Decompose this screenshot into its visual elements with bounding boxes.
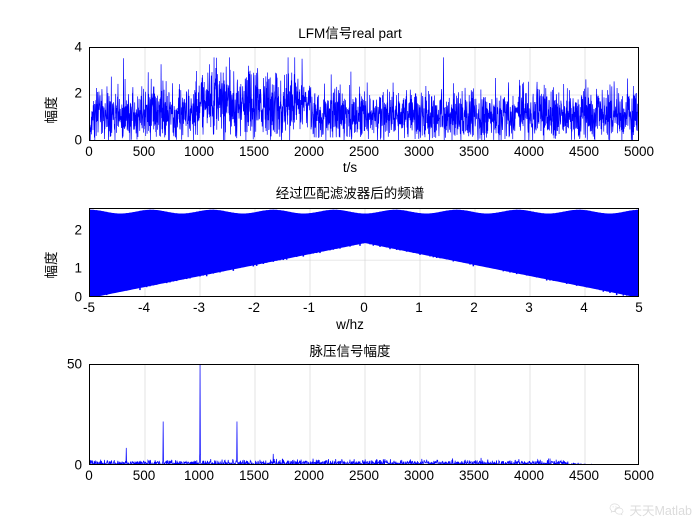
subplot-1-plot-area xyxy=(90,48,639,141)
subplot-2-xtick-5: 5 xyxy=(614,300,664,315)
subplot-1-xtick-2000: 2000 xyxy=(279,144,339,159)
subplot-1-xtick-4000: 4000 xyxy=(499,144,559,159)
subplot-3-xtick-1500: 1500 xyxy=(224,468,284,483)
subplot-3-series xyxy=(90,365,639,465)
subplot-2-ytick-1: 1 xyxy=(56,261,82,276)
subplot-1-xtick-3000: 3000 xyxy=(389,144,449,159)
subplot-1-xtick-500: 500 xyxy=(114,144,174,159)
subplot-2-xtick-m2: -2 xyxy=(229,300,279,315)
subplot-3-gridlines xyxy=(145,365,585,465)
subplot-3-title: 脉压信号幅度 xyxy=(0,340,700,360)
subplot-3-ytick-50: 50 xyxy=(48,357,82,372)
subplot-3-axes[interactable] xyxy=(89,364,639,465)
subplot-2-ytick-2: 2 xyxy=(56,223,82,238)
subplot-2-xtick-m3: -3 xyxy=(174,300,224,315)
subplot-3-xtick-0: 0 xyxy=(59,468,119,483)
subplot-1-ytick-2: 2 xyxy=(56,86,82,101)
subplot-3-xtick-500: 500 xyxy=(114,468,174,483)
subplot-2-plot-area xyxy=(90,209,639,297)
subplot-2-series xyxy=(90,210,639,297)
subplot-1-xlabel: t/s xyxy=(0,160,700,175)
subplot-3-xtick-3500: 3500 xyxy=(444,468,504,483)
subplot-2-xtick-m4: -4 xyxy=(119,300,169,315)
subplot-1-xtick-1000: 1000 xyxy=(169,144,229,159)
subplot-3-xtick-5000: 5000 xyxy=(609,468,669,483)
subplot-1-series xyxy=(90,57,639,141)
subplot-2-xlabel: w/hz xyxy=(0,317,700,332)
subplot-3-plot-area xyxy=(90,365,639,465)
subplot-2-xtick-4: 4 xyxy=(559,300,609,315)
subplot-1-axes[interactable] xyxy=(89,47,639,141)
subplot-2-xtick-m5: -5 xyxy=(64,300,114,315)
subplot-2-xtick-3: 3 xyxy=(504,300,554,315)
matlab-figure-window: LFM信号real part 幅度 4 2 0 0 500 1000 1500 … xyxy=(0,0,700,525)
subplot-3-xtick-2000: 2000 xyxy=(279,468,339,483)
subplot-1-xtick-3500: 3500 xyxy=(444,144,504,159)
subplot-2-xtick-1: 1 xyxy=(394,300,444,315)
subplot-1-xtick-2500: 2500 xyxy=(334,144,394,159)
subplot-2-title: 经过匹配滤波器后的频谱 xyxy=(0,182,700,202)
subplot-3-xtick-4000: 4000 xyxy=(499,468,559,483)
subplot-2: 经过匹配滤波器后的频谱 幅度 2 1 0 -5 -4 -3 -2 -1 0 1 … xyxy=(0,182,700,337)
watermark: 天天Matlab xyxy=(609,500,692,519)
subplot-2-xtick-2: 2 xyxy=(449,300,499,315)
subplot-1-xtick-0: 0 xyxy=(59,144,119,159)
subplot-1: LFM信号real part 幅度 4 2 0 0 500 1000 1500 … xyxy=(0,22,700,177)
subplot-3: 脉压信号幅度 50 0 0 500 1000 1500 2000 2500 30… xyxy=(0,340,700,490)
subplot-2-xtick-0: 0 xyxy=(339,300,389,315)
subplot-3-xtick-4500: 4500 xyxy=(554,468,614,483)
wechat-icon xyxy=(609,502,624,517)
subplot-3-xtick-1000: 1000 xyxy=(169,468,229,483)
subplot-3-xtick-3000: 3000 xyxy=(389,468,449,483)
subplot-1-ytick-4: 4 xyxy=(56,40,82,55)
subplot-1-xtick-5000: 5000 xyxy=(609,144,669,159)
subplot-1-xtick-1500: 1500 xyxy=(224,144,284,159)
subplot-2-xtick-m1: -1 xyxy=(284,300,334,315)
subplot-1-xtick-4500: 4500 xyxy=(554,144,614,159)
subplot-1-title: LFM信号real part xyxy=(0,22,700,42)
watermark-text: 天天Matlab xyxy=(629,500,692,519)
subplot-2-axes[interactable] xyxy=(89,208,639,297)
subplot-3-xtick-2500: 2500 xyxy=(334,468,394,483)
